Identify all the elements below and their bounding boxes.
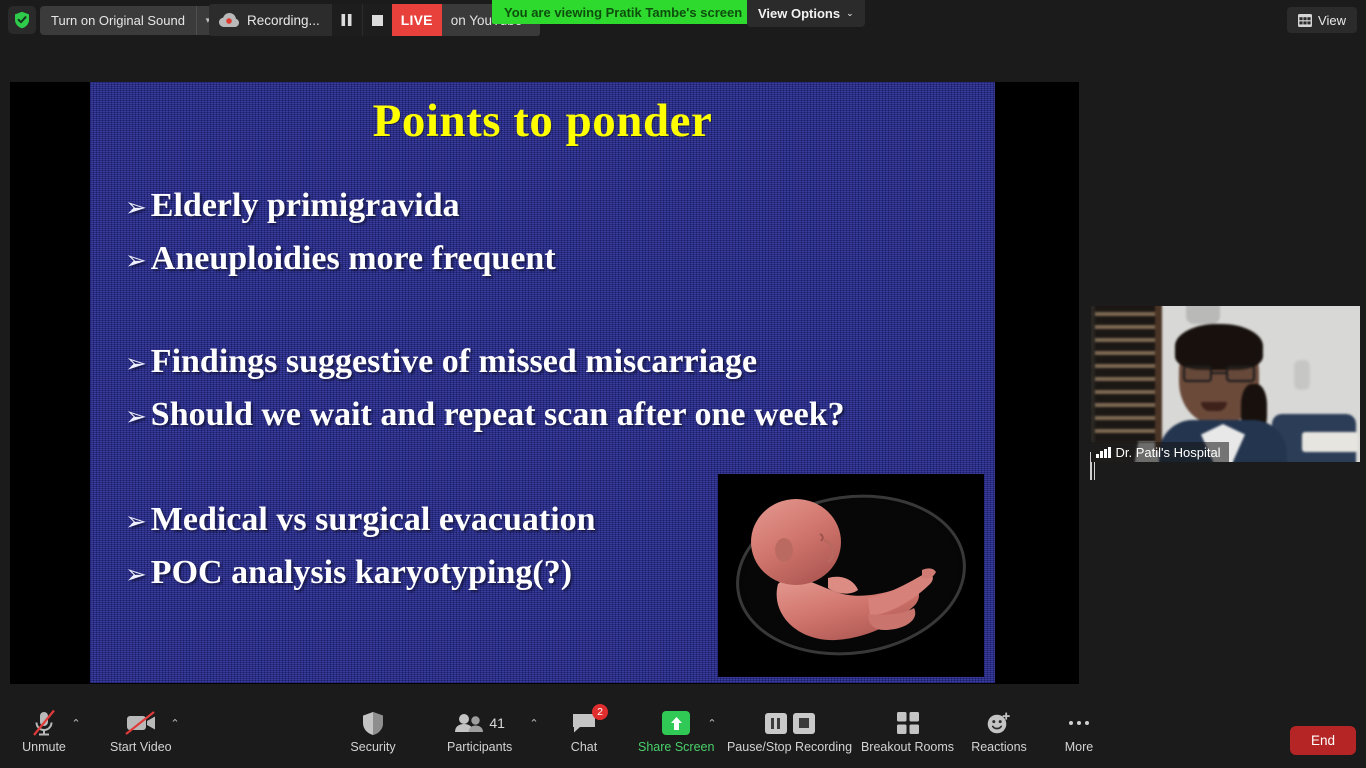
recording-status-label: Recording... bbox=[247, 13, 332, 28]
people-icon bbox=[454, 713, 484, 733]
audio-bars-icon bbox=[1096, 447, 1111, 458]
fetus-graphic bbox=[718, 474, 984, 677]
video-icon-wrap bbox=[124, 708, 158, 738]
toolbar-item-breakout-rooms[interactable]: Breakout Rooms bbox=[860, 708, 955, 754]
slide-bullet-text: Aneuploidies more frequent bbox=[151, 233, 556, 284]
view-options-button[interactable]: View Options ⌄ bbox=[747, 0, 865, 27]
participants-count: 41 bbox=[489, 715, 505, 731]
video-label: Start Video bbox=[110, 740, 172, 754]
participant-name-text: Dr. Patil's Hospital bbox=[1116, 445, 1221, 460]
view-options-label: View Options bbox=[758, 6, 840, 21]
view-layout-button[interactable]: View bbox=[1287, 7, 1357, 33]
stop-icon bbox=[799, 718, 809, 728]
breakout-rooms-label: Breakout Rooms bbox=[861, 740, 954, 754]
live-badge: LIVE bbox=[392, 4, 442, 36]
bullet-arrow-icon: ➢ bbox=[125, 235, 147, 286]
pause-icon bbox=[341, 14, 352, 26]
mute-label: Unmute bbox=[22, 740, 66, 754]
smiley-plus-icon bbox=[986, 711, 1012, 735]
grid-squares-icon bbox=[896, 711, 920, 735]
toolbar-item-more[interactable]: More bbox=[1053, 708, 1105, 754]
security-label: Security bbox=[350, 740, 395, 754]
pause-icon bbox=[771, 718, 780, 729]
participants-chevron-up-icon: ⌃ bbox=[529, 708, 538, 738]
shared-screen-area: Points to ponder ➢ Elderly primigravida … bbox=[10, 82, 1079, 684]
participants-label: Participants bbox=[447, 740, 512, 754]
slide-bullet-text: Should we wait and repeat scan after one… bbox=[151, 389, 845, 440]
toolbar-item-reactions[interactable]: Reactions bbox=[965, 708, 1033, 754]
gallery-grid-icon bbox=[1298, 14, 1312, 27]
original-sound-label: Turn on Original Sound bbox=[40, 6, 196, 35]
bullet-arrow-icon: ➢ bbox=[125, 182, 147, 233]
toolbar-item-chat[interactable]: 2 Chat bbox=[558, 708, 610, 754]
pause-recording-toolbar-button[interactable] bbox=[765, 713, 787, 734]
toolbar-item-participants[interactable]: 41 Participants bbox=[447, 708, 512, 754]
stop-icon bbox=[372, 15, 383, 26]
pause-recording-button[interactable] bbox=[332, 4, 362, 36]
mute-icon-wrap bbox=[31, 708, 57, 738]
shield-check-icon bbox=[14, 11, 30, 29]
fetus-illustration-image bbox=[718, 474, 984, 677]
reactions-icon-wrap bbox=[986, 708, 1012, 738]
share-chevron-up-icon: ⌃ bbox=[707, 708, 716, 738]
share-icon-wrap bbox=[662, 708, 690, 738]
end-meeting-button[interactable]: End bbox=[1290, 726, 1356, 755]
presentation-slide: Points to ponder ➢ Elderly primigravida … bbox=[90, 82, 995, 683]
encryption-shield-icon[interactable] bbox=[8, 6, 36, 34]
bullet-arrow-icon: ➢ bbox=[125, 391, 147, 442]
share-screen-options-button[interactable]: ⌃ bbox=[702, 708, 722, 738]
slide-title: Points to ponder bbox=[90, 94, 995, 148]
bullet-arrow-icon: ➢ bbox=[125, 496, 147, 547]
cloud-record-icon bbox=[209, 13, 247, 28]
slide-bullet: ➢ Aneuploidies more frequent bbox=[125, 233, 985, 286]
slide-bullet-text: Findings suggestive of missed miscarriag… bbox=[151, 336, 757, 387]
recording-label: Pause/Stop Recording bbox=[727, 740, 852, 754]
chevron-down-icon: ⌄ bbox=[846, 8, 854, 19]
toolbar-item-video[interactable]: Start Video bbox=[110, 708, 172, 754]
zoom-meeting-window: Turn on Original Sound ▾ Recording... bbox=[0, 0, 1366, 768]
view-button-label: View bbox=[1318, 13, 1346, 28]
microphone-muted-icon bbox=[31, 709, 57, 737]
chat-icon-wrap: 2 bbox=[571, 708, 597, 738]
share-screen-label: Share Screen bbox=[638, 740, 714, 754]
bullet-arrow-icon: ➢ bbox=[125, 338, 147, 389]
more-icon-wrap bbox=[1069, 708, 1089, 738]
bullet-arrow-icon: ➢ bbox=[125, 549, 147, 600]
upload-arrow-icon bbox=[662, 711, 690, 735]
video-camera-off-icon bbox=[124, 710, 158, 736]
mute-options-button[interactable]: ⌃ bbox=[66, 708, 86, 738]
participant-name-label: Dr. Patil's Hospital bbox=[1091, 442, 1229, 462]
video-chevron-up-icon: ⌃ bbox=[170, 708, 179, 738]
more-label: More bbox=[1065, 740, 1093, 754]
toolbar-item-security[interactable]: Security bbox=[347, 708, 399, 754]
slide-bullet: ➢ Should we wait and repeat scan after o… bbox=[125, 389, 985, 442]
slide-bullet: ➢ Findings suggestive of missed miscarri… bbox=[125, 336, 985, 389]
chat-unread-badge: 2 bbox=[592, 704, 608, 720]
slide-bullet-text: POC analysis karyotyping(?) bbox=[151, 547, 572, 598]
participants-icon-wrap: 41 bbox=[454, 708, 505, 738]
reactions-label: Reactions bbox=[971, 740, 1027, 754]
mute-chevron-up-icon: ⌃ bbox=[71, 708, 80, 738]
participant-video-thumbnail[interactable]: Dr. Patil's Hospital bbox=[1091, 306, 1360, 462]
recording-control-group: Recording... LIVE on YouTube ▾ bbox=[209, 4, 540, 36]
video-blur-overlay bbox=[1091, 306, 1360, 462]
stop-recording-toolbar-button[interactable] bbox=[793, 713, 815, 734]
video-options-button[interactable]: ⌃ bbox=[165, 708, 185, 738]
breakout-icon-wrap bbox=[896, 708, 920, 738]
meeting-toolbar: Unmute ⌃ Start Video ⌃ bbox=[0, 700, 1366, 768]
toolbar-item-recording[interactable]: Pause/Stop Recording bbox=[722, 708, 857, 754]
stop-recording-button[interactable] bbox=[362, 4, 392, 36]
participants-options-button[interactable]: ⌃ bbox=[524, 708, 544, 738]
ellipsis-icon bbox=[1069, 721, 1089, 725]
slide-spacer bbox=[125, 286, 985, 336]
security-icon-wrap bbox=[362, 708, 384, 738]
toolbar-item-mute[interactable]: Unmute bbox=[18, 708, 70, 754]
original-sound-control[interactable]: Turn on Original Sound ▾ bbox=[40, 6, 219, 35]
shield-icon bbox=[362, 711, 384, 736]
recording-buttons-wrap bbox=[765, 708, 815, 738]
chat-label: Chat bbox=[571, 740, 597, 754]
viewing-screen-banner: You are viewing Pratik Tambe's screen bbox=[492, 0, 754, 24]
top-bar: Turn on Original Sound ▾ Recording... bbox=[0, 0, 1366, 40]
slide-bullet-text: Elderly primigravida bbox=[151, 180, 460, 231]
slide-bullet: ➢ Elderly primigravida bbox=[125, 180, 985, 233]
slide-bullet-text: Medical vs surgical evacuation bbox=[151, 494, 596, 545]
